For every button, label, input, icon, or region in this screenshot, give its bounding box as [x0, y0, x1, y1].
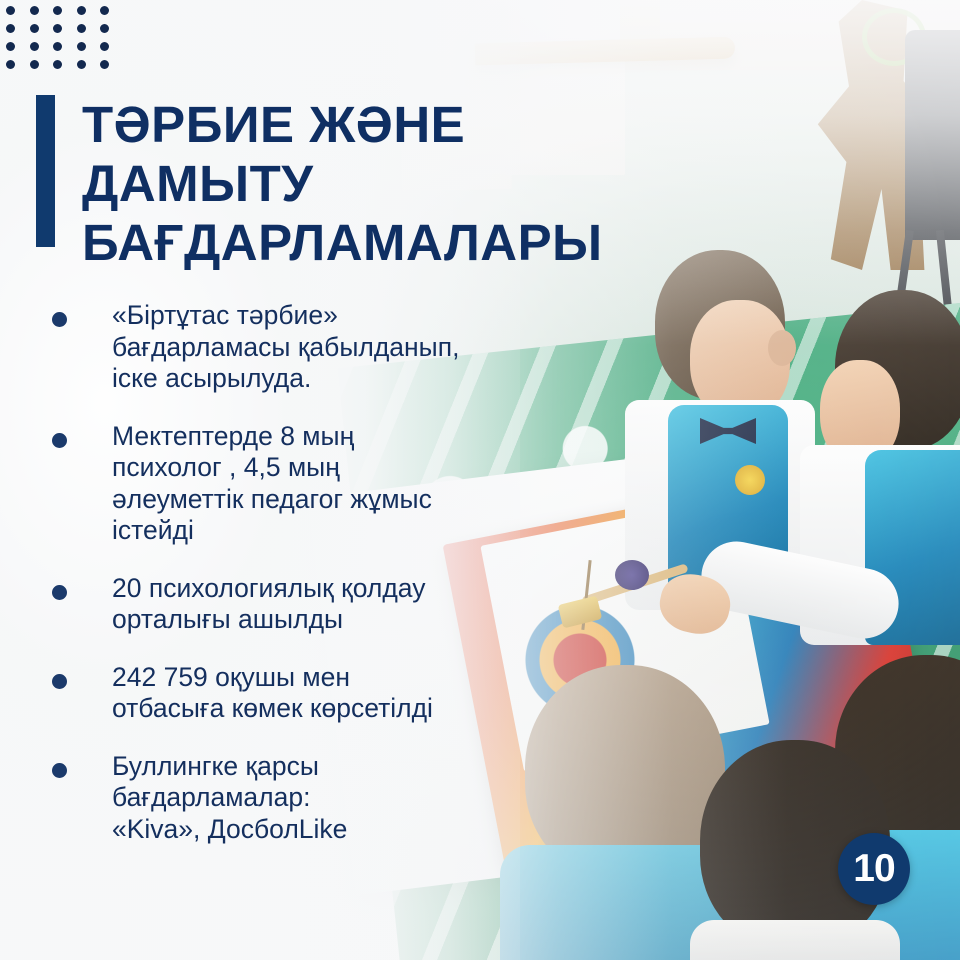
- grid-dot: [77, 60, 86, 69]
- grid-dot: [77, 24, 86, 33]
- grid-dot: [100, 24, 109, 33]
- grid-dot: [53, 60, 62, 69]
- list-item-text: 242 759 оқушы мен отбасыға көмек көрсеті…: [112, 662, 433, 725]
- list-item-text: Буллингке қарсы бағдарламалар: «Kiva», Д…: [112, 751, 347, 846]
- grid-dot: [6, 6, 15, 15]
- grid-dot: [77, 6, 86, 15]
- bullet-dot-icon: [52, 312, 67, 327]
- grid-dot: [6, 24, 15, 33]
- grid-dot: [30, 42, 39, 51]
- grid-dot: [30, 60, 39, 69]
- bullet-dot-icon: [52, 433, 67, 448]
- bullet-dot-icon: [52, 763, 67, 778]
- bullet-dot-icon: [52, 585, 67, 600]
- grid-dot: [30, 24, 39, 33]
- grid-dot: [6, 60, 15, 69]
- dot-grid-decoration: [6, 6, 124, 78]
- grid-dot: [100, 60, 109, 69]
- page-number-badge: 10: [838, 833, 910, 905]
- grid-dot: [53, 24, 62, 33]
- grid-dot: [53, 42, 62, 51]
- grid-dot: [77, 42, 86, 51]
- grid-dot: [53, 6, 62, 15]
- title-accent-bar: [36, 95, 55, 247]
- infographic-slide: ТӘРБИЕ ЖӘНЕ ДАМЫТУ БАҒДАРЛАМАЛАРЫ «Біртұ…: [0, 0, 960, 960]
- list-item-text: Мектептерде 8 мың психолог , 4,5 мың әле…: [112, 421, 432, 547]
- list-item-text: 20 психологиялық қолдау орталығы ашылды: [112, 573, 426, 636]
- list-item: Буллингке қарсы бағдарламалар: «Kiva», Д…: [52, 751, 522, 846]
- title-block: ТӘРБИЕ ЖӘНЕ ДАМЫТУ БАҒДАРЛАМАЛАРЫ: [36, 95, 603, 272]
- list-item: Мектептерде 8 мың психолог , 4,5 мың әле…: [52, 421, 522, 547]
- bullet-list: «Біртұтас тәрбие» бағдарламасы қабылданы…: [52, 300, 522, 871]
- grid-dot: [6, 42, 15, 51]
- list-item: 242 759 оқушы мен отбасыға көмек көрсеті…: [52, 662, 522, 725]
- grid-dot: [100, 42, 109, 51]
- bullet-dot-icon: [52, 674, 67, 689]
- grid-dot: [100, 6, 109, 15]
- list-item: «Біртұтас тәрбие» бағдарламасы қабылданы…: [52, 300, 522, 395]
- list-item: 20 психологиялық қолдау орталығы ашылды: [52, 573, 522, 636]
- grid-dot: [30, 6, 39, 15]
- list-item-text: «Біртұтас тәрбие» бағдарламасы қабылданы…: [112, 300, 459, 395]
- page-title: ТӘРБИЕ ЖӘНЕ ДАМЫТУ БАҒДАРЛАМАЛАРЫ: [82, 95, 603, 272]
